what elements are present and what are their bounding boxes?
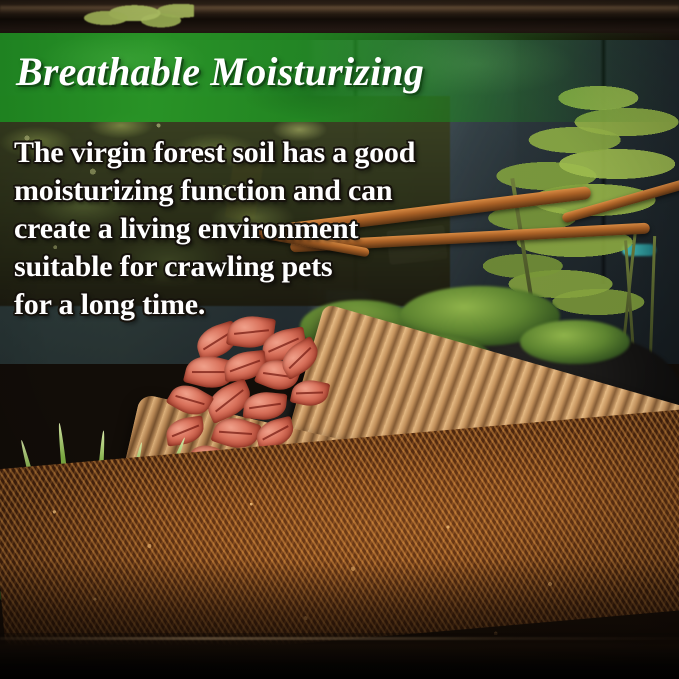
feature-description: The virgin forest soil has a good moistu… <box>14 134 484 324</box>
page-title: Breathable Moisturizing <box>16 48 424 95</box>
description-line: suitable for crawling pets <box>14 248 484 286</box>
product-feature-image: Breathable Moisturizing The virgin fores… <box>0 0 679 679</box>
description-line: The virgin forest soil has a good <box>14 134 484 172</box>
description-line: create a living environment <box>14 210 484 248</box>
description-line: for a long time. <box>14 286 484 324</box>
description-line: moisturizing function and can <box>14 172 484 210</box>
moss-patch <box>520 320 630 364</box>
terrarium-bottom-frame <box>0 633 679 679</box>
